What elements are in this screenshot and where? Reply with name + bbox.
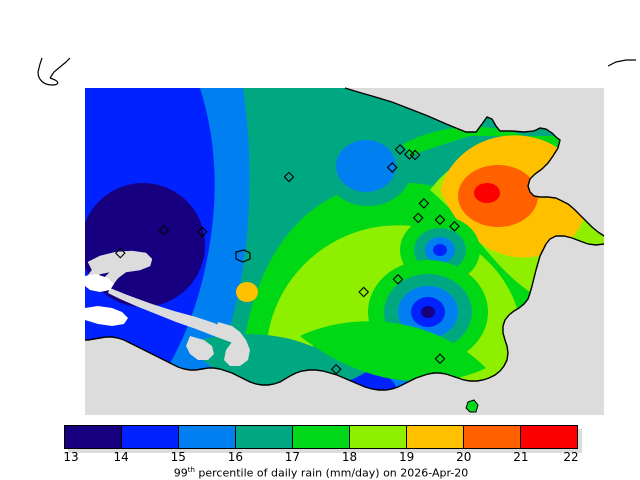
- colorbar-tick-19: 19: [399, 450, 414, 464]
- colorbar-bands: [64, 425, 578, 449]
- colorbar-tick-22: 22: [563, 450, 578, 464]
- caption-superscript: th: [188, 466, 195, 474]
- colorbar-band-21-22: [521, 426, 577, 448]
- map-canvas: [0, 40, 640, 415]
- colorbar-band-20-21: [464, 426, 521, 448]
- rainfall-contour-map: [0, 40, 640, 415]
- band-14-15-east-low-core: [433, 244, 447, 256]
- colorbar-band-13-14: [65, 426, 122, 448]
- colorbar-band-19-20: [407, 426, 464, 448]
- colorbar-caption: 99th percentile of daily rain (mm/day) o…: [64, 466, 578, 480]
- colorbar-tick-14: 14: [113, 450, 128, 464]
- colorbar-legend: 13141516171819202122 99th percentile of …: [64, 425, 578, 477]
- band-19-20-west-warm-spot: [236, 282, 258, 302]
- colorbar-tick-16: 16: [228, 450, 243, 464]
- colorbar-tick-17: 17: [285, 450, 300, 464]
- colorbar-tick-15: 15: [171, 450, 186, 464]
- colorbar-band-18-19: [350, 426, 407, 448]
- colorbar-tick-21: 21: [513, 450, 528, 464]
- colorbar-band-14-15: [122, 426, 179, 448]
- caption-rest: percentile of daily rain (mm/day) on 202…: [195, 467, 468, 480]
- caption-prefix: 99: [174, 467, 188, 480]
- band-13-14-mideast-core: [421, 306, 435, 318]
- band-15-16-north-low: [336, 140, 396, 192]
- colorbar-band-16-17: [236, 426, 293, 448]
- colorbar-tick-labels: 13141516171819202122: [64, 450, 578, 466]
- colorbar-tick-13: 13: [63, 450, 78, 464]
- band-21-22-maximum-core: [474, 183, 500, 203]
- colorbar-tick-18: 18: [342, 450, 357, 464]
- weather-map-page: VictoriaWeather.ca -- Summer Total Daily…: [0, 0, 640, 480]
- colorbar-band-15-16: [179, 426, 236, 448]
- colorbar-band-17-18: [293, 426, 350, 448]
- colorbar-tick-20: 20: [456, 450, 471, 464]
